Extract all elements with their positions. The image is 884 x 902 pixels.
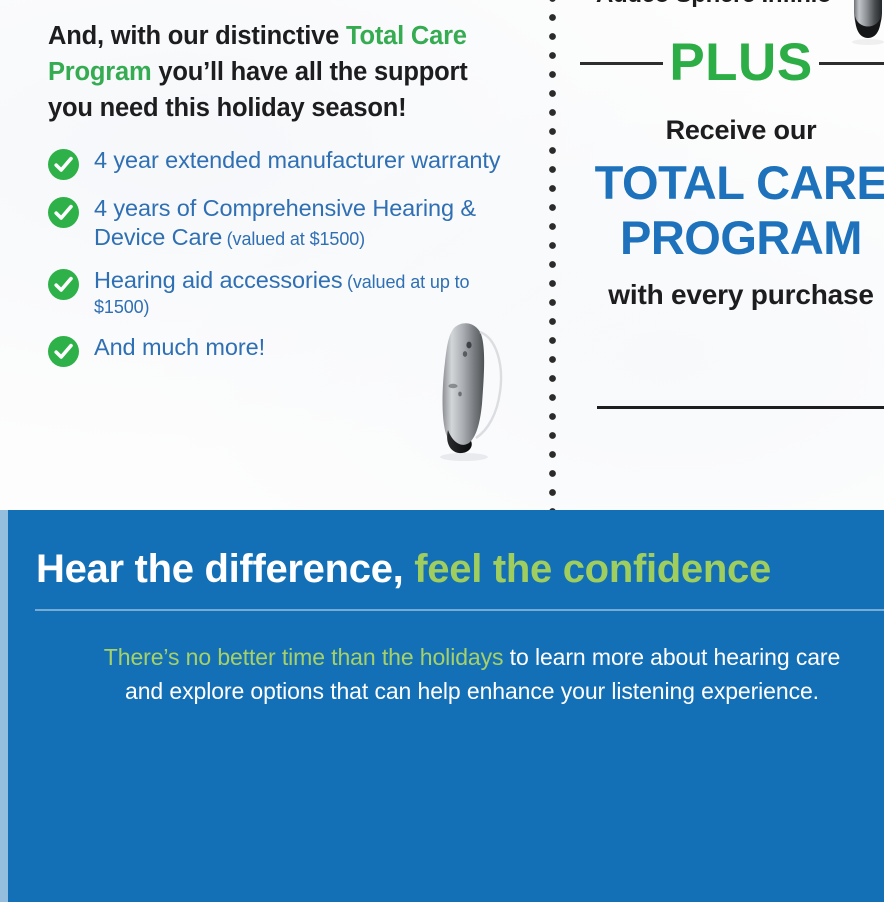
check-circle-icon <box>48 336 79 367</box>
plus-divider-row: PLUS <box>576 35 884 91</box>
list-item: 4 year extended manufacturer warranty <box>48 146 518 180</box>
banner-headline-accent: feel the confidence <box>414 547 771 591</box>
benefit-main-text: Hearing aid accessories <box>94 267 343 293</box>
benefit-sub-text: (valued at $1500) <box>227 229 365 249</box>
check-circle-icon <box>48 197 79 228</box>
product-name-text: Audeo Sphere Infinio <box>596 0 831 8</box>
offer-heading-line1: TOTAL CARE <box>576 155 884 210</box>
benefit-text: 4 years of Comprehensive Hearing & Devic… <box>94 194 518 252</box>
vertical-dotted-divider <box>548 0 557 510</box>
banner-body-accent: There’s no better time than the holidays <box>104 644 504 670</box>
check-circle-icon <box>48 149 79 180</box>
list-item: 4 years of Comprehensive Hearing & Devic… <box>48 194 518 252</box>
intro-paragraph: And, with our distinctive Total Care Pro… <box>48 0 518 126</box>
product-name: Audeo Sphere Infinio1 <box>576 0 884 11</box>
banner-body-line2: and explore options that can help enhanc… <box>44 674 884 708</box>
benefit-text: And much more! <box>94 333 265 362</box>
offer-subtext: with every purchase <box>576 277 884 313</box>
banner-headline-part1: Hear the difference, <box>36 547 414 591</box>
plus-label: PLUS <box>663 35 818 91</box>
cta-banner: Hear the difference, feel the confidence… <box>0 510 884 902</box>
promotional-flyer: And, with our distinctive Total Care Pro… <box>0 0 884 902</box>
benefit-main-text: 4 year extended manufacturer warranty <box>94 147 500 173</box>
intro-text-part1: And, with our distinctive <box>48 22 346 50</box>
banner-left-edge <box>0 510 8 902</box>
plus-rule-right <box>819 62 884 65</box>
receive-our-label: Receive our <box>576 113 884 147</box>
banner-body-rest: to learn more about hearing care <box>503 644 840 670</box>
offer-heading: TOTAL CARE PROGRAM <box>576 155 884 265</box>
offer-bottom-rule <box>597 406 884 409</box>
offer-section: And, with our distinctive Total Care Pro… <box>0 0 884 510</box>
check-circle-icon <box>48 269 79 300</box>
benefit-main-text: And much more! <box>94 334 265 360</box>
offer-column: Audeo Sphere Infinio1 PLUS Receive our T… <box>576 0 884 313</box>
banner-rule <box>35 609 884 611</box>
offer-heading-line2: PROGRAM <box>576 210 884 265</box>
hearing-aid-image <box>424 312 520 462</box>
plus-rule-left <box>580 62 663 65</box>
hearing-aid-image-cropped <box>848 0 884 46</box>
benefit-text: 4 year extended manufacturer warranty <box>94 146 500 175</box>
banner-headline: Hear the difference, feel the confidence <box>36 543 771 595</box>
banner-body-text: There’s no better time than the holidays… <box>44 640 884 708</box>
